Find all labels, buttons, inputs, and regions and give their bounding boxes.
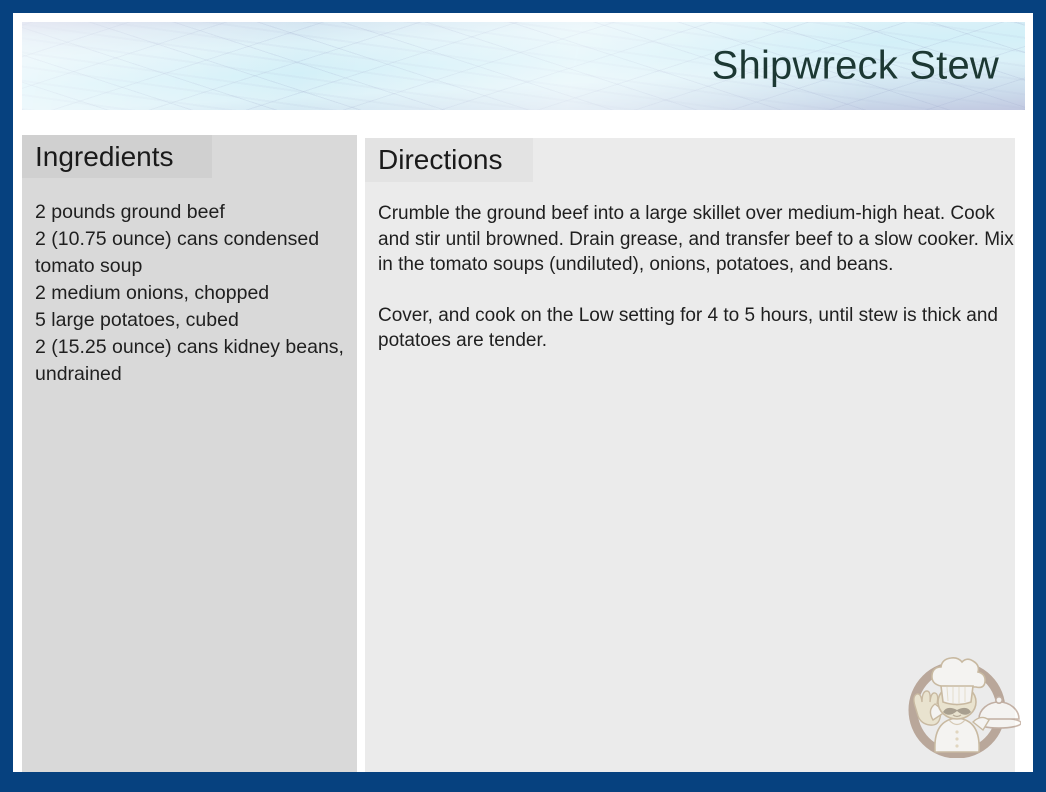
list-item: 2 medium onions, chopped xyxy=(35,280,357,307)
slide-content-area: Shipwreck Stew xyxy=(13,13,1033,772)
directions-paragraph: Cover, and cook on the Low setting for 4… xyxy=(378,303,1028,354)
ingredients-list: 2 pounds ground beef 2 (10.75 ounce) can… xyxy=(35,199,357,388)
list-item: 2 (15.25 ounce) cans kidney beans, undra… xyxy=(35,334,357,388)
title-banner: Shipwreck Stew xyxy=(22,22,1025,110)
recipe-slide: Shipwreck Stew xyxy=(0,0,1046,792)
tab-directions-label: Directions xyxy=(378,144,502,176)
directions-text: Crumble the ground beef into a large ski… xyxy=(378,201,1028,354)
tab-directions[interactable]: Directions xyxy=(365,138,533,182)
list-item: 2 (10.75 ounce) cans condensed tomato so… xyxy=(35,226,357,280)
page-title: Shipwreck Stew xyxy=(712,44,999,89)
tab-ingredients-label: Ingredients xyxy=(35,141,174,173)
list-item: 2 pounds ground beef xyxy=(35,199,357,226)
chef-mascot-logo xyxy=(899,640,1021,758)
directions-paragraph: Crumble the ground beef into a large ski… xyxy=(378,201,1028,278)
list-item: 5 large potatoes, cubed xyxy=(35,307,357,334)
tab-ingredients[interactable]: Ingredients xyxy=(22,135,212,178)
